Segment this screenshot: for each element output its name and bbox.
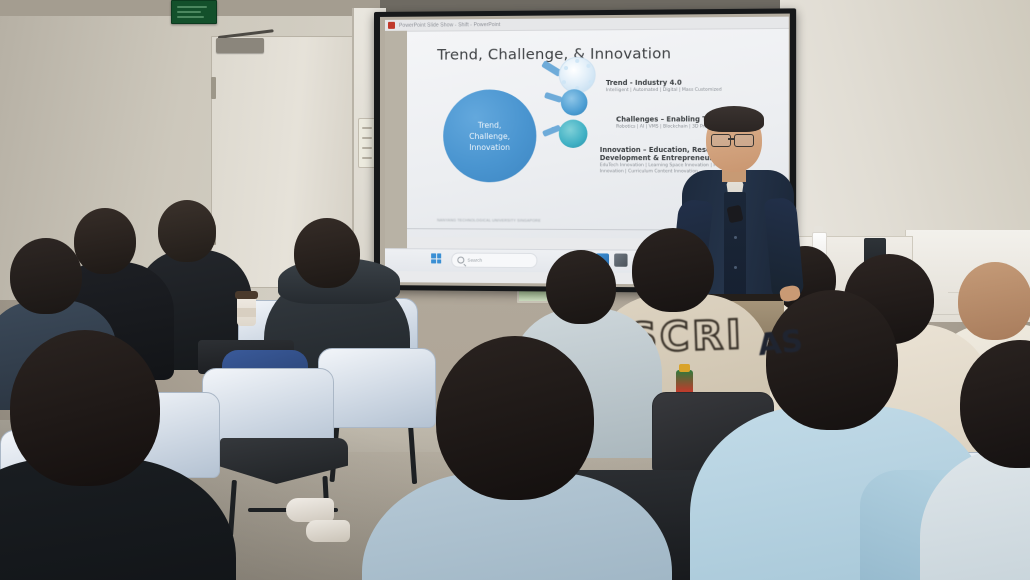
door-hinge-icon — [211, 77, 216, 99]
slide-title: Trend, Challenge, & Innovation — [437, 46, 671, 64]
tee-graphic-text-2: AS — [757, 328, 804, 360]
shoe — [286, 498, 334, 522]
lecture-hall-photo: PowerPoint Slide Show - Shift - PowerPoi… — [0, 0, 1030, 580]
water-bottle-cap — [679, 364, 690, 372]
presenter-badge — [726, 205, 743, 224]
exit-sign — [171, 0, 217, 24]
presenter-hair — [704, 106, 764, 132]
tablet-arm-chair — [202, 368, 332, 518]
connector-bar — [544, 92, 562, 103]
glasses-bridge — [728, 138, 735, 140]
search-placeholder: Search — [467, 258, 482, 263]
coffee-cup-sleeve — [237, 308, 256, 317]
slide-footer: NANYANG TECHNOLOGICAL UNIVERSITY SINGAPO… — [437, 218, 541, 222]
block-heading: Trend - Industry 4.0 — [606, 78, 722, 87]
foreground-person — [940, 330, 1030, 580]
industry-node-icon — [559, 57, 596, 94]
shoe — [306, 520, 350, 542]
door-closer — [216, 38, 264, 53]
powerpoint-icon — [388, 22, 395, 29]
foreground-person — [392, 336, 642, 580]
slide-block-trend: Trend - Industry 4.0 Intelligent | Autom… — [606, 78, 722, 94]
foreground-person — [0, 330, 210, 580]
center-circle-label: Trend,Challenge,Innovation — [469, 119, 510, 152]
glasses-icon — [711, 134, 731, 147]
innovation-node-icon — [559, 120, 588, 148]
block-subtext: Intelligent | Automated | Digital | Mass… — [606, 88, 722, 94]
window-title: PowerPoint Slide Show - Shift - PowerPoi… — [399, 21, 500, 28]
technology-node-icon — [561, 89, 588, 115]
start-icon[interactable] — [431, 253, 442, 264]
center-circle: Trend,Challenge,Innovation — [443, 89, 536, 182]
glasses-icon — [734, 134, 754, 147]
search-icon — [457, 257, 464, 264]
tablet-writing-surface — [220, 438, 348, 484]
coffee-cup-lid — [235, 291, 258, 299]
